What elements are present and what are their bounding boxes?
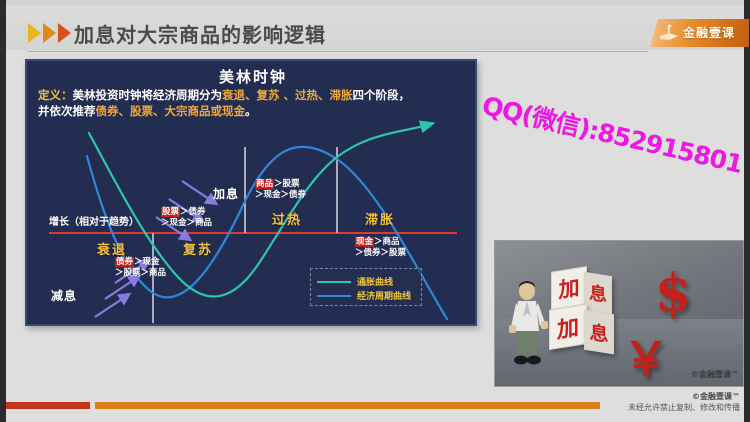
right-gutter	[744, 0, 750, 422]
chevron-right-icon	[28, 23, 41, 43]
allocation-highlight: 股票	[161, 207, 180, 217]
left-gutter	[0, 0, 6, 422]
slide-root: 加息对大宗商品的影响逻辑 金融壹课 美林时钟 定义：美林投资时钟将经济周期分为衰…	[0, 0, 750, 422]
allocation-recession: 债券＞现金 ＞股票＞商品	[115, 257, 166, 279]
allocation-rest2: ＞股票＞商品	[115, 268, 166, 278]
allocation-rest2: ＞现金＞债券	[255, 190, 306, 200]
chevron-right-icon	[43, 23, 56, 43]
slide-header: 加息对大宗商品的影响逻辑 金融壹课	[6, 5, 744, 50]
allocation-highlight: 商品	[255, 179, 274, 189]
growth-axis-label: 增长（相对于趋势）	[49, 213, 139, 228]
phase-label-recovery: 复苏	[183, 239, 213, 258]
rate-cut-arrow	[105, 279, 135, 299]
rate-hike-arrow	[182, 181, 212, 201]
chart-legend: 通胀曲线 经济周期曲线	[310, 268, 422, 306]
legend-swatch-icon	[317, 281, 351, 283]
header-divider	[28, 51, 648, 52]
allocation-rest1: ＞债券	[180, 207, 206, 217]
legend-label: 通胀曲线	[357, 275, 393, 288]
brand-logo-text: 金融壹课	[683, 24, 735, 41]
photo-credit: ©金融壹课™	[495, 369, 739, 380]
legend-label: 经济周期曲线	[357, 289, 411, 302]
phase-label-stagflation: 滞胀	[365, 209, 395, 228]
allocation-highlight: 债券	[115, 257, 134, 267]
legend-swatch-icon	[317, 295, 351, 297]
rate-hike-label: 加息	[213, 185, 239, 202]
allocation-rest1: ＞现金	[134, 257, 160, 267]
allocation-rest1: ＞股票	[274, 179, 300, 189]
allocation-stagflation: 现金＞商品 ＞债券＞股票	[355, 237, 406, 259]
footer-bar-orange	[95, 402, 600, 409]
allocation-overheat: 商品＞股票 ＞现金＞债券	[255, 179, 306, 201]
cube-top-front: 加	[551, 266, 587, 310]
rate-cut-label: 减息	[51, 287, 77, 304]
brand-logo-badge: 金融壹课	[650, 19, 749, 47]
cube-top-side: 息	[584, 272, 612, 314]
merrill-lynch-clock-chart: 美林时钟 定义：美林投资时钟将经济周期分为衰退、复苏 、过热、滞胀四个阶段， 并…	[25, 59, 477, 326]
phase-label-recession: 衰退	[97, 239, 127, 258]
cube-bottom-side: 息	[584, 310, 614, 355]
allocation-rest2: ＞债券＞股票	[355, 248, 406, 258]
chevron-right-icon	[58, 23, 71, 43]
allocation-rest2: ＞现金＞商品	[161, 218, 212, 228]
allocation-highlight: 现金	[355, 237, 374, 247]
businessman-figurine	[507, 279, 551, 369]
footer-notice: 未经允许禁止复制、修改和传播	[560, 402, 740, 413]
allocation-rest1: ＞商品	[374, 237, 400, 247]
phase-label-overheat: 过热	[272, 209, 302, 228]
footer-bar-red	[6, 402, 90, 409]
page-title: 加息对大宗商品的影响逻辑	[74, 19, 326, 48]
allocation-recovery: 股票＞债券 ＞现金＞商品	[161, 207, 212, 229]
contact-watermark: QQ(微信):852915801	[479, 86, 731, 177]
rate-hike-photo: 加 息 加 息 $ ￥ ©金融壹课™	[494, 240, 744, 387]
cube-bottom-front: 加	[549, 304, 587, 350]
footer-credit: ©金融壹课™	[600, 391, 740, 402]
dollar-symbol: $	[655, 263, 691, 324]
rate-cut-arrow	[95, 297, 125, 317]
book-torch-icon	[659, 24, 679, 42]
